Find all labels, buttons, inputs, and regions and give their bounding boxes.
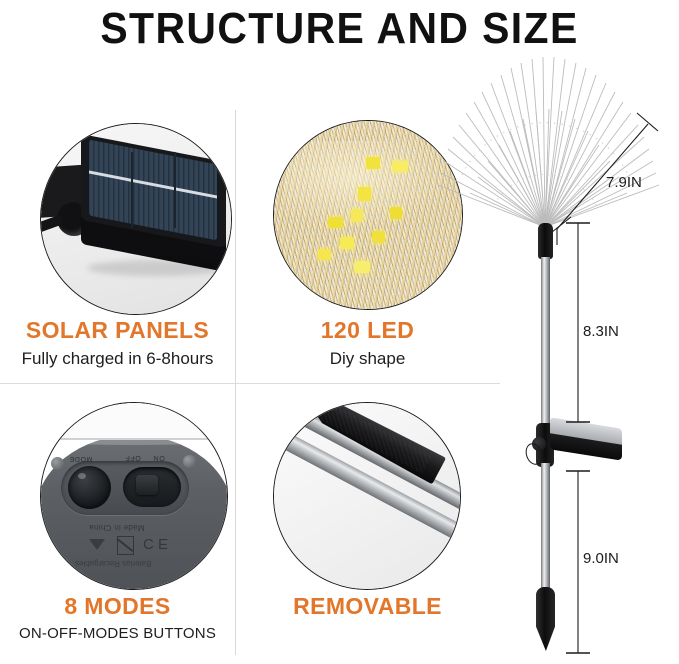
led-chip (358, 187, 371, 201)
mode-label: MODE (69, 455, 92, 462)
led-chip (328, 217, 343, 228)
infographic-page: STRUCTURE AND SIZE SOLAR PANELS Ful (0, 0, 679, 664)
pv-cell-gap-2 (174, 152, 176, 228)
dimension-label-pole-lower: 9.0IN (583, 550, 619, 567)
off-label: OFF (125, 454, 141, 461)
led-chip (392, 161, 408, 172)
battery-note-text: Baterias Recargables (75, 559, 151, 568)
feature-solar-panels: SOLAR PANELS Fully charged in 6-8hours (0, 110, 235, 383)
table-surface (41, 403, 227, 439)
led-chip (354, 261, 370, 273)
solar-panels-caption: SOLAR PANELS Fully charged in 6-8hours (0, 317, 235, 369)
modes-heading: 8 MODES (0, 593, 235, 620)
led-chip (390, 207, 402, 219)
led-chip (340, 237, 354, 249)
screw-left (51, 457, 64, 470)
ground-stake-tip (536, 587, 555, 651)
dimension-label-pole-upper: 8.3IN (583, 323, 619, 340)
onoff-switch-toggle[interactable] (136, 475, 158, 495)
ce-mark-icon: Ǝ Ɔ (143, 535, 168, 552)
made-in-china-text: Made in China (89, 523, 145, 532)
metal-pole-lower (541, 463, 550, 591)
solar-panels-subtitle: Fully charged in 6-8hours (0, 349, 235, 369)
product-illustration: 7.9IN 8.3IN 9.0IN (420, 45, 679, 664)
on-label: ON (153, 454, 165, 461)
recycle-triangle-icon (89, 539, 105, 550)
control-buttons-photo: MODE OFF ON Made in China Ǝ Ɔ Baterias R… (40, 402, 228, 590)
led-chip (366, 157, 380, 169)
mode-button[interactable] (68, 466, 111, 509)
drop-shadow (87, 260, 223, 276)
pv-cell-gap-1 (131, 152, 133, 228)
metal-pole-upper (541, 257, 550, 429)
solar-panels-heading: SOLAR PANELS (0, 317, 235, 344)
table-edge-line (41, 438, 227, 440)
solar-panel-photo (40, 123, 232, 315)
led-chip (372, 231, 385, 243)
led-chip (351, 209, 363, 222)
mode-button-gloss (78, 473, 86, 479)
modes-subtitle: ON-OFF-MODES BUTTONS (0, 625, 235, 642)
feature-modes: MODE OFF ON Made in China Ǝ Ɔ Baterias R… (0, 390, 235, 655)
led-chip (318, 249, 331, 260)
dimension-label-fan-width: 7.9IN (606, 174, 642, 191)
screw-right (183, 455, 196, 468)
modes-caption: 8 MODES ON-OFF-MODES BUTTONS (0, 593, 235, 642)
